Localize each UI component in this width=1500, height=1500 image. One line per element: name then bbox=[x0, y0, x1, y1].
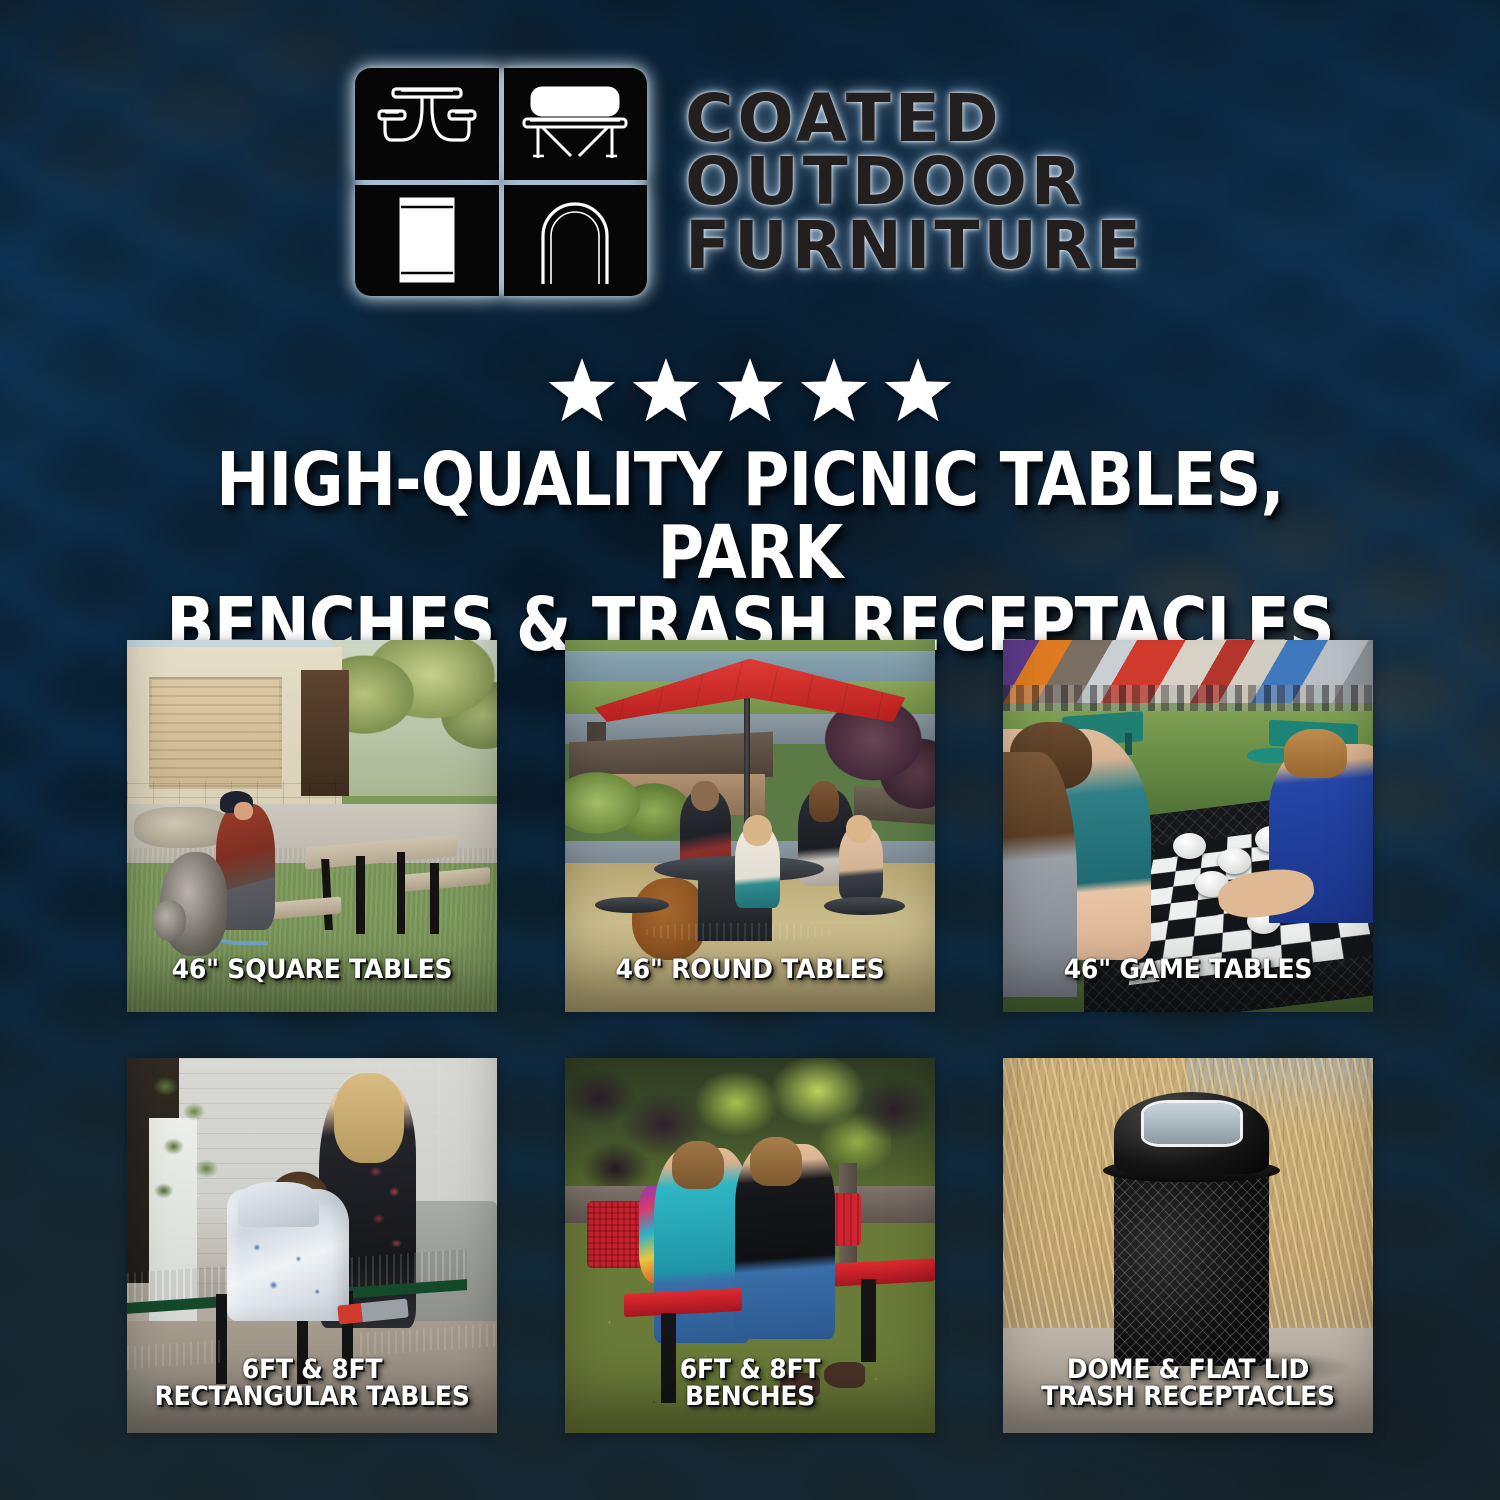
star-rating bbox=[0, 358, 1500, 428]
page-title: HIGH-QUALITY PICNIC TABLES, PARK BENCHES… bbox=[157, 444, 1344, 662]
product-caption-rectangular-tables: 6FT & 8FT RECTANGULAR TABLES bbox=[140, 1356, 484, 1411]
product-card-round-tables[interactable]: 46" ROUND TABLES bbox=[565, 640, 935, 1012]
product-caption-trash-receptacles: DOME & FLAT LID TRASH RECEPTACLES bbox=[1016, 1356, 1360, 1411]
star-icon bbox=[712, 358, 788, 428]
brand-name: COATED OUTDOOR FURNITURE bbox=[685, 87, 1145, 277]
product-caption-game-tables: 46" GAME TABLES bbox=[1016, 956, 1360, 984]
product-caption-round-tables: 46" ROUND TABLES bbox=[578, 956, 922, 984]
product-card-benches[interactable]: 6FT & 8FT BENCHES bbox=[565, 1058, 935, 1433]
bench-icon bbox=[504, 68, 648, 180]
product-card-rectangular-tables[interactable]: 6FT & 8FT RECTANGULAR TABLES bbox=[127, 1058, 497, 1433]
star-icon bbox=[628, 358, 704, 428]
brand-line-2: OUTDOOR bbox=[685, 150, 1086, 213]
star-icon bbox=[796, 358, 872, 428]
product-card-square-tables[interactable]: 46" SQUARE TABLES bbox=[127, 640, 497, 1012]
logo-mark bbox=[355, 68, 647, 296]
trash-receptacle-icon bbox=[355, 185, 499, 297]
product-caption-square-tables: 46" SQUARE TABLES bbox=[140, 956, 484, 984]
product-grid: 46" SQUARE TABLES 46" ROUND TABLES bbox=[127, 640, 1373, 1433]
product-card-game-tables[interactable]: 46" GAME TABLES bbox=[1003, 640, 1373, 1012]
bike-rack-icon bbox=[504, 185, 648, 297]
brand-logo-block: COATED OUTDOOR FURNITURE bbox=[0, 68, 1500, 296]
star-icon bbox=[880, 358, 956, 428]
star-icon bbox=[544, 358, 620, 428]
brand-line-3: FURNITURE bbox=[685, 214, 1145, 277]
product-caption-benches: 6FT & 8FT BENCHES bbox=[578, 1356, 922, 1411]
product-card-trash-receptacles[interactable]: DOME & FLAT LID TRASH RECEPTACLES bbox=[1003, 1058, 1373, 1433]
brand-line-1: COATED bbox=[685, 87, 1003, 150]
picnic-table-icon bbox=[355, 68, 499, 180]
